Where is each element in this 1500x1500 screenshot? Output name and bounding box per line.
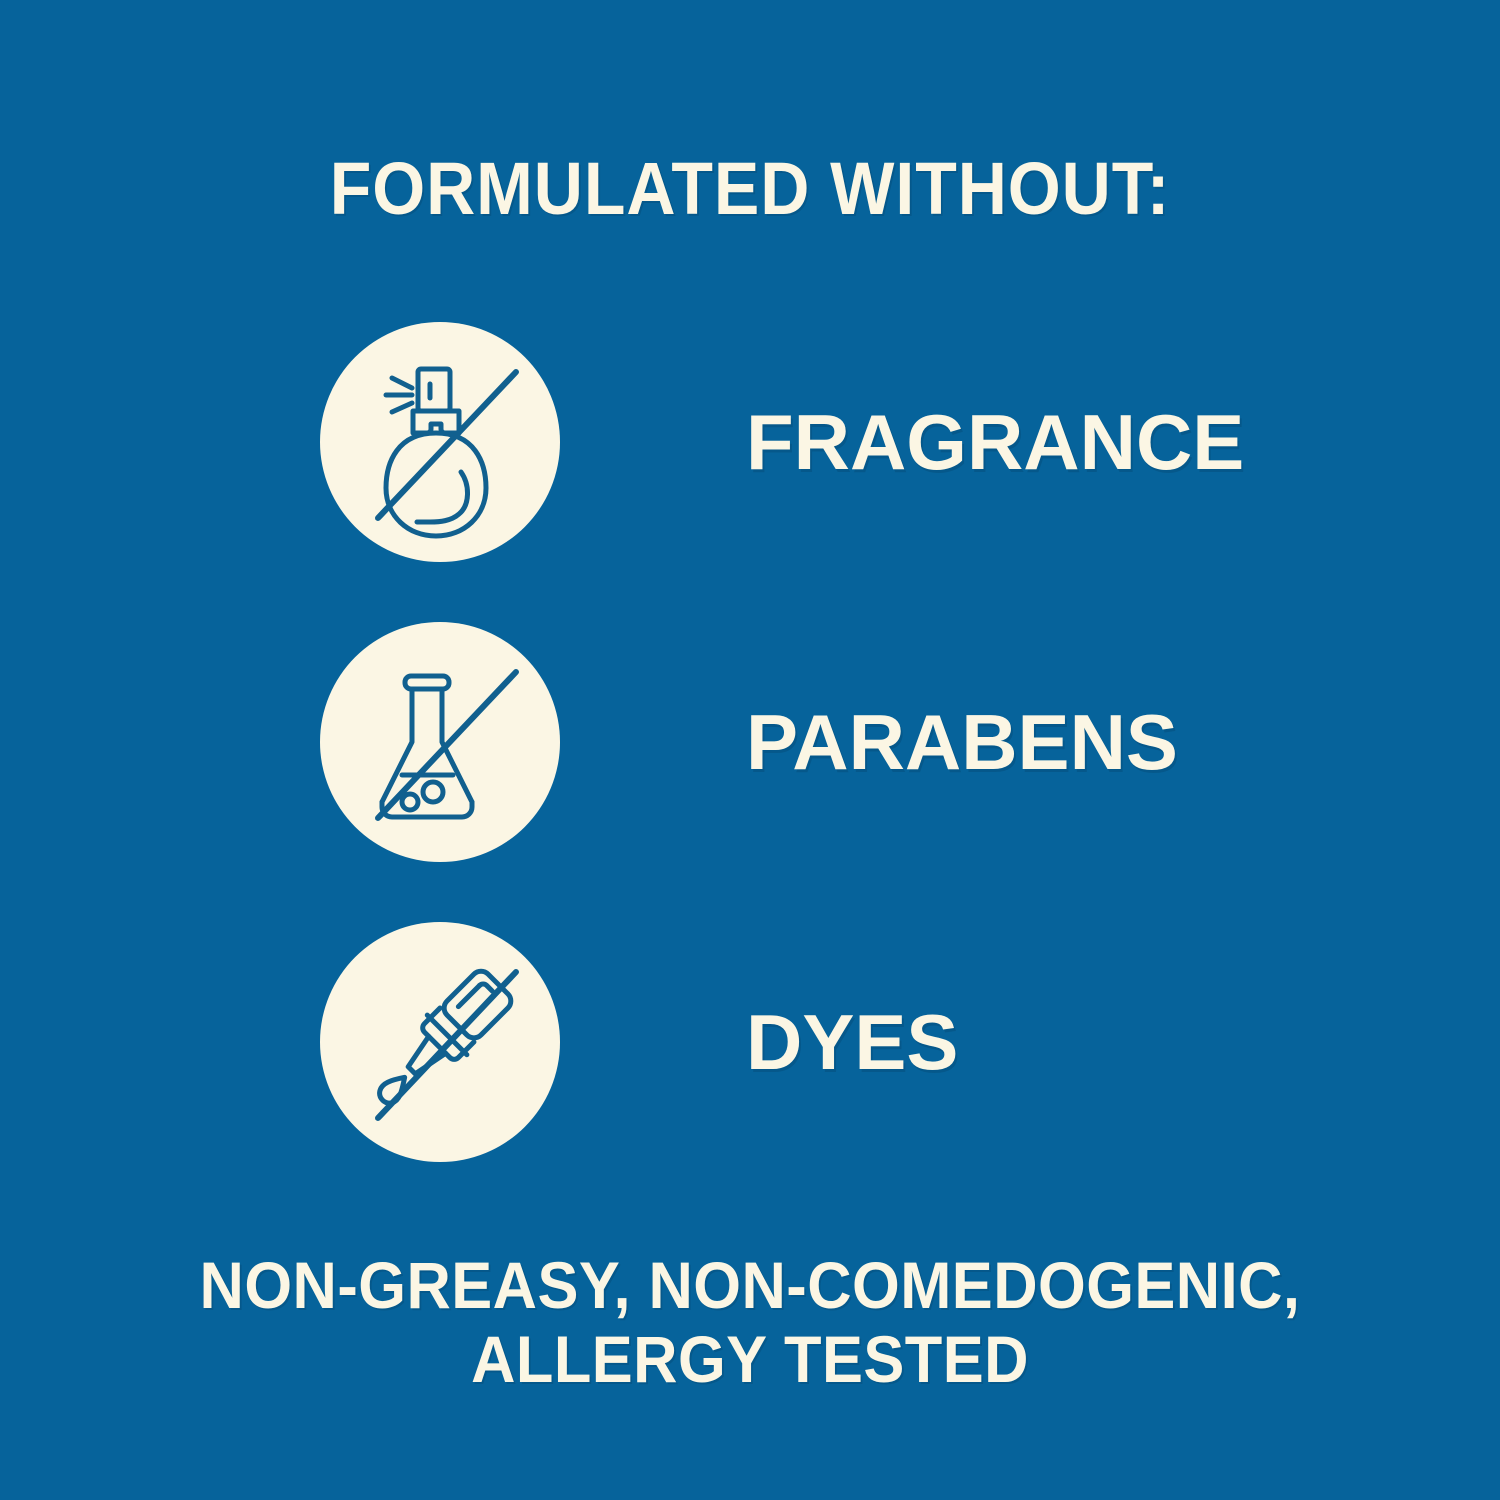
no-chemical-flask-icon	[320, 622, 560, 862]
formulated-without-panel: FORMULATED WITHOUT:	[0, 0, 1500, 1500]
footer-line-1: NON-GREASY, NON-COMEDOGENIC,	[53, 1248, 1448, 1322]
page-title: FORMULATED WITHOUT:	[60, 152, 1440, 226]
claims-list: FRAGRANCE	[0, 322, 1500, 1222]
footer-claims: NON-GREASY, NON-COMEDOGENIC, ALLERGY TES…	[53, 1248, 1448, 1396]
no-dropper-icon	[320, 922, 560, 1162]
claim-label-fragrance: FRAGRANCE	[746, 403, 1244, 481]
list-item: PARABENS	[0, 622, 1500, 862]
claim-label-dyes: DYES	[746, 1003, 958, 1081]
list-item: DYES	[0, 922, 1500, 1162]
claim-label-parabens: PARABENS	[746, 703, 1178, 781]
no-fragrance-bottle-icon	[320, 322, 560, 562]
list-item: FRAGRANCE	[0, 322, 1500, 562]
footer-line-2: ALLERGY TESTED	[53, 1322, 1448, 1396]
